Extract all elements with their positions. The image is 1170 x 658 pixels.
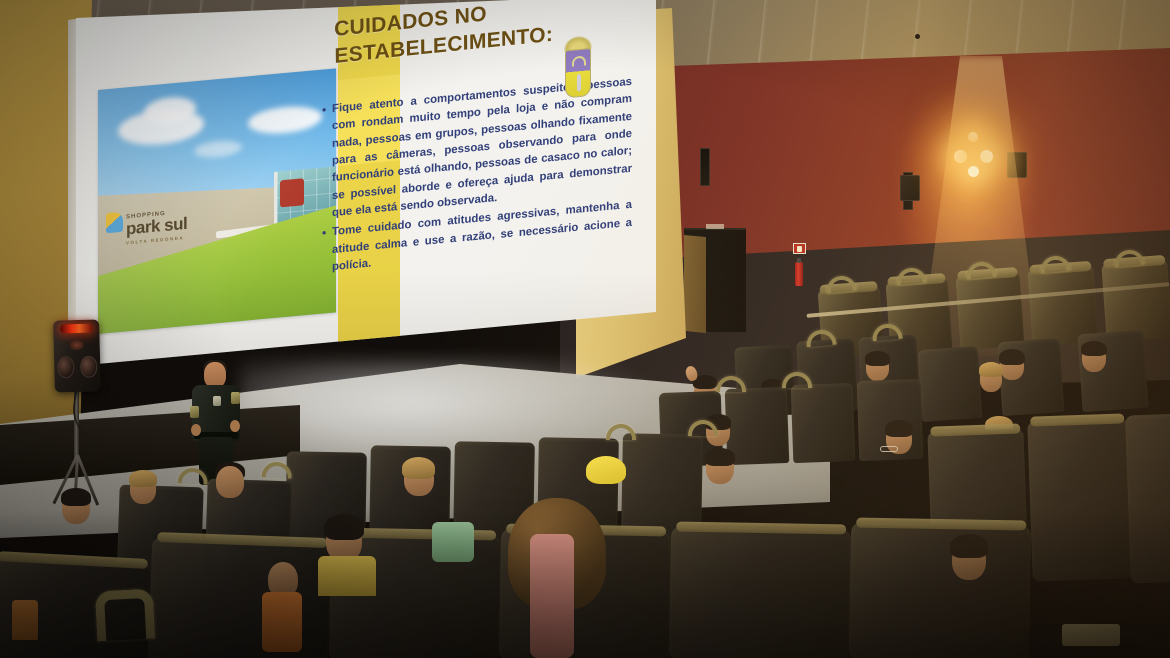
aisle-step-marker: [1062, 624, 1120, 646]
wall-light-fixture: [940, 130, 1010, 178]
speaker-woofer-right: [80, 355, 98, 377]
seat[interactable]: [1027, 418, 1133, 581]
audience-hair: [865, 351, 890, 366]
audience-eyeglasses: [880, 446, 898, 452]
photo-logo-text: SHOPPING park sul VOLTA REDONDA: [126, 209, 187, 246]
seat-headrest: [857, 518, 1026, 531]
seat-headrest: [930, 423, 1021, 436]
audience-hair: [705, 448, 735, 466]
crest-sword: [577, 74, 581, 91]
audience-shirt: [318, 556, 376, 596]
presenter-hand-right: [230, 420, 240, 432]
audience-hair: [61, 488, 91, 506]
presenter-shoulder-patch-right: [231, 392, 240, 404]
audience-shirt-orange: [262, 592, 302, 652]
seat[interactable]: [918, 346, 983, 422]
pa-speaker: [53, 319, 101, 392]
presenter-chest-badge: [213, 396, 221, 406]
slide-photo-mall: SHOPPING park sul VOLTA REDONDA: [98, 68, 336, 334]
seat-armrest: [95, 589, 156, 642]
seat[interactable]: [148, 537, 332, 658]
seat[interactable]: [955, 272, 1024, 350]
crest-shield: [565, 48, 591, 98]
cinema-photo-scene: SHOPPING park sul VOLTA REDONDA CUIDADOS…: [0, 0, 1170, 658]
audience-hair: [129, 470, 157, 487]
audience-hair: [324, 514, 364, 540]
fire-extinguisher-sign: [793, 243, 806, 254]
photo-logo-mark: [106, 212, 123, 234]
audience-hair: [402, 457, 435, 479]
seat[interactable]: [669, 526, 851, 658]
audience-yellow-cap: [586, 456, 626, 484]
presenter-hand-left: [191, 424, 201, 436]
speaker-led-strip: [60, 324, 92, 334]
audience-hair: [950, 534, 988, 558]
crest-arch: [572, 55, 586, 66]
seat-headrest: [676, 522, 845, 535]
military-police-crest-icon: [558, 34, 598, 110]
fire-extinguisher: [795, 262, 803, 286]
audience-shirt-green: [432, 522, 474, 562]
audience-head-bald: [216, 466, 244, 498]
seat[interactable]: [1125, 412, 1170, 583]
audience-hair: [885, 420, 913, 437]
presenter-shoulder-patch-left: [190, 406, 199, 418]
seat[interactable]: [791, 383, 856, 463]
speaker-tweeter: [70, 340, 84, 350]
seat-headrest: [1030, 413, 1124, 426]
audience-hair: [999, 349, 1025, 365]
seat[interactable]: [849, 522, 1031, 658]
aisle-step-marker: [12, 600, 38, 640]
wall-vent: [700, 148, 710, 186]
audience-shirt-pink: [530, 534, 574, 658]
audience-hair: [979, 362, 1003, 377]
wall-speaker: [900, 175, 920, 201]
audience-hair: [1081, 341, 1107, 356]
photo-store-sign: [280, 179, 304, 208]
door-lintel-light: [706, 224, 724, 229]
exit-door-leaf[interactable]: [684, 235, 706, 333]
seat[interactable]: [725, 387, 790, 465]
speaker-woofer-left: [57, 356, 75, 378]
